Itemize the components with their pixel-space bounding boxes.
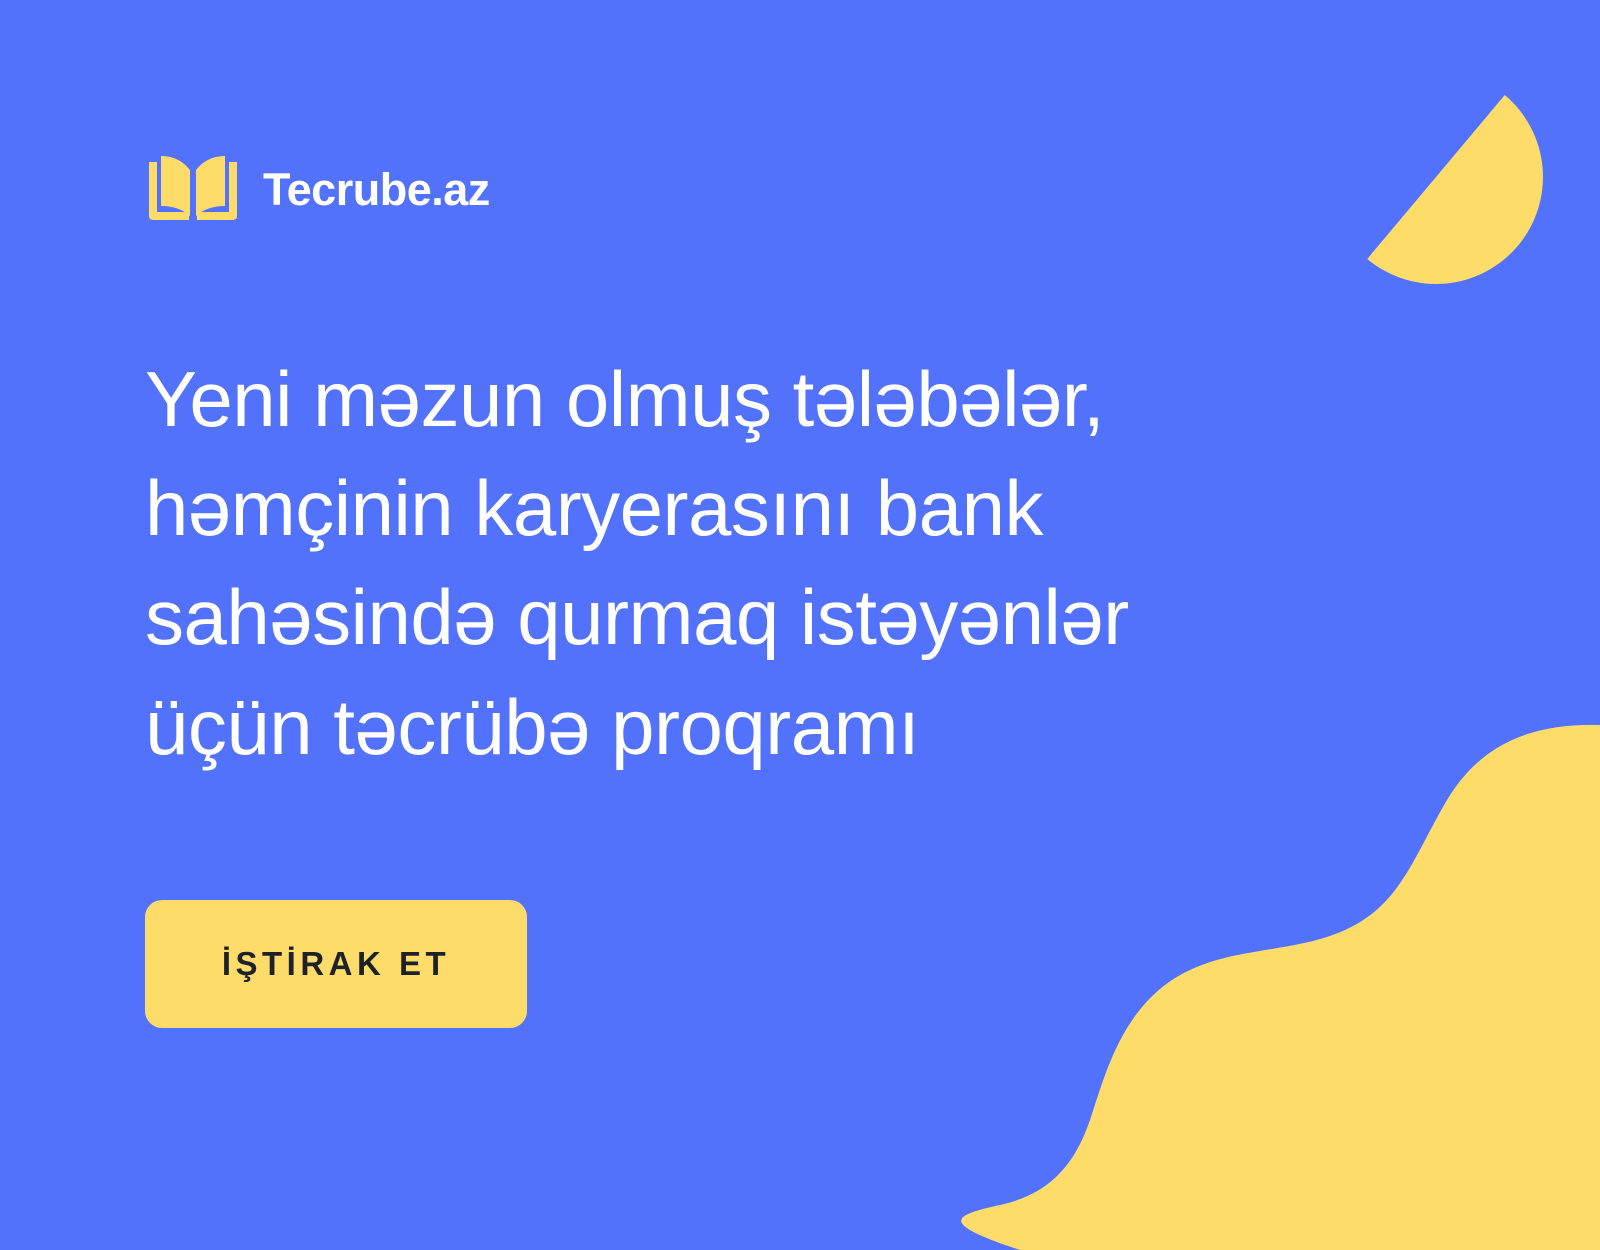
promo-banner: Tecrube.az Yeni məzun olmuş tələbələr, h… — [0, 0, 1600, 1250]
brand-name: Tecrube.az — [263, 167, 490, 212]
headline-line-2: həmçinin karyerasını bank — [145, 454, 1335, 563]
headline-line-4: üçün təcrübə proqramı — [145, 673, 1335, 782]
half-circle-decoration — [1367, 95, 1586, 328]
headline-line-3: sahəsində qurmaq istəyənlər — [145, 563, 1335, 672]
headline-line-1: Yeni məzun olmuş tələbələr, — [145, 345, 1335, 454]
page-title: Yeni məzun olmuş tələbələr, həmçinin kar… — [145, 345, 1335, 782]
participate-button[interactable]: İŞTİRAK ET — [145, 900, 527, 1028]
brand-logo[interactable]: Tecrube.az — [145, 150, 490, 228]
open-book-icon — [145, 150, 241, 228]
wave-blob-decoration — [961, 725, 1600, 1250]
